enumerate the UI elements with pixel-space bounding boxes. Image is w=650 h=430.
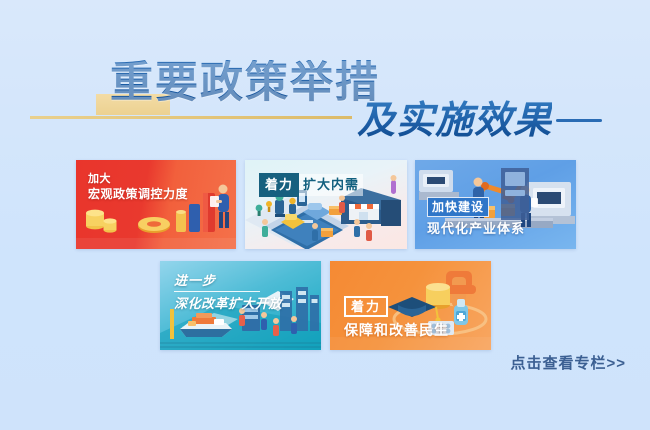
view-column-link[interactable]: 点击查看专栏>> bbox=[510, 352, 626, 373]
card-modern-industry-caption: 加快建设 现代化产业体系 bbox=[427, 197, 525, 237]
card-reform-opening-rule bbox=[174, 291, 260, 292]
card-reform-opening-line1: 进一步 bbox=[174, 272, 282, 289]
card-domestic-demand-line1: 着力 bbox=[259, 173, 299, 197]
card-macro-policy-caption: 加大 宏观政策调控力度 bbox=[88, 172, 188, 202]
card-peoples-livelihood-line1: 着力 bbox=[344, 296, 388, 317]
card-domestic-demand-line2: 扩大内需 bbox=[299, 174, 363, 196]
card-peoples-livelihood-caption: 着力 保障和改善民生 bbox=[344, 296, 449, 339]
card-macro-policy-line1: 加大 bbox=[88, 172, 188, 186]
card-reform-opening-line2: 深化改革扩大开放 bbox=[174, 295, 282, 312]
card-domestic-demand[interactable]: 着力扩大内需 bbox=[245, 160, 407, 249]
card-reform-opening-caption: 进一步 深化改革扩大开放 bbox=[174, 272, 282, 312]
card-modern-industry-line1: 加快建设 bbox=[427, 197, 489, 217]
card-domestic-demand-caption: 着力扩大内需 bbox=[259, 173, 363, 197]
card-modern-industry-line2: 现代化产业体系 bbox=[427, 220, 525, 237]
card-reform-opening[interactable]: 进一步 深化改革扩大开放 bbox=[160, 261, 321, 350]
card-macro-policy-line2: 宏观政策调控力度 bbox=[88, 186, 188, 202]
policy-banner: 重要政策举措 及实施效果 bbox=[0, 0, 650, 430]
card-macro-policy[interactable]: 加大 宏观政策调控力度 bbox=[76, 160, 236, 249]
card-modern-industry[interactable]: 加快建设 现代化产业体系 bbox=[415, 160, 576, 249]
card-peoples-livelihood[interactable]: 着力 保障和改善民生 bbox=[330, 261, 491, 350]
card-peoples-livelihood-line2: 保障和改善民生 bbox=[344, 321, 449, 339]
